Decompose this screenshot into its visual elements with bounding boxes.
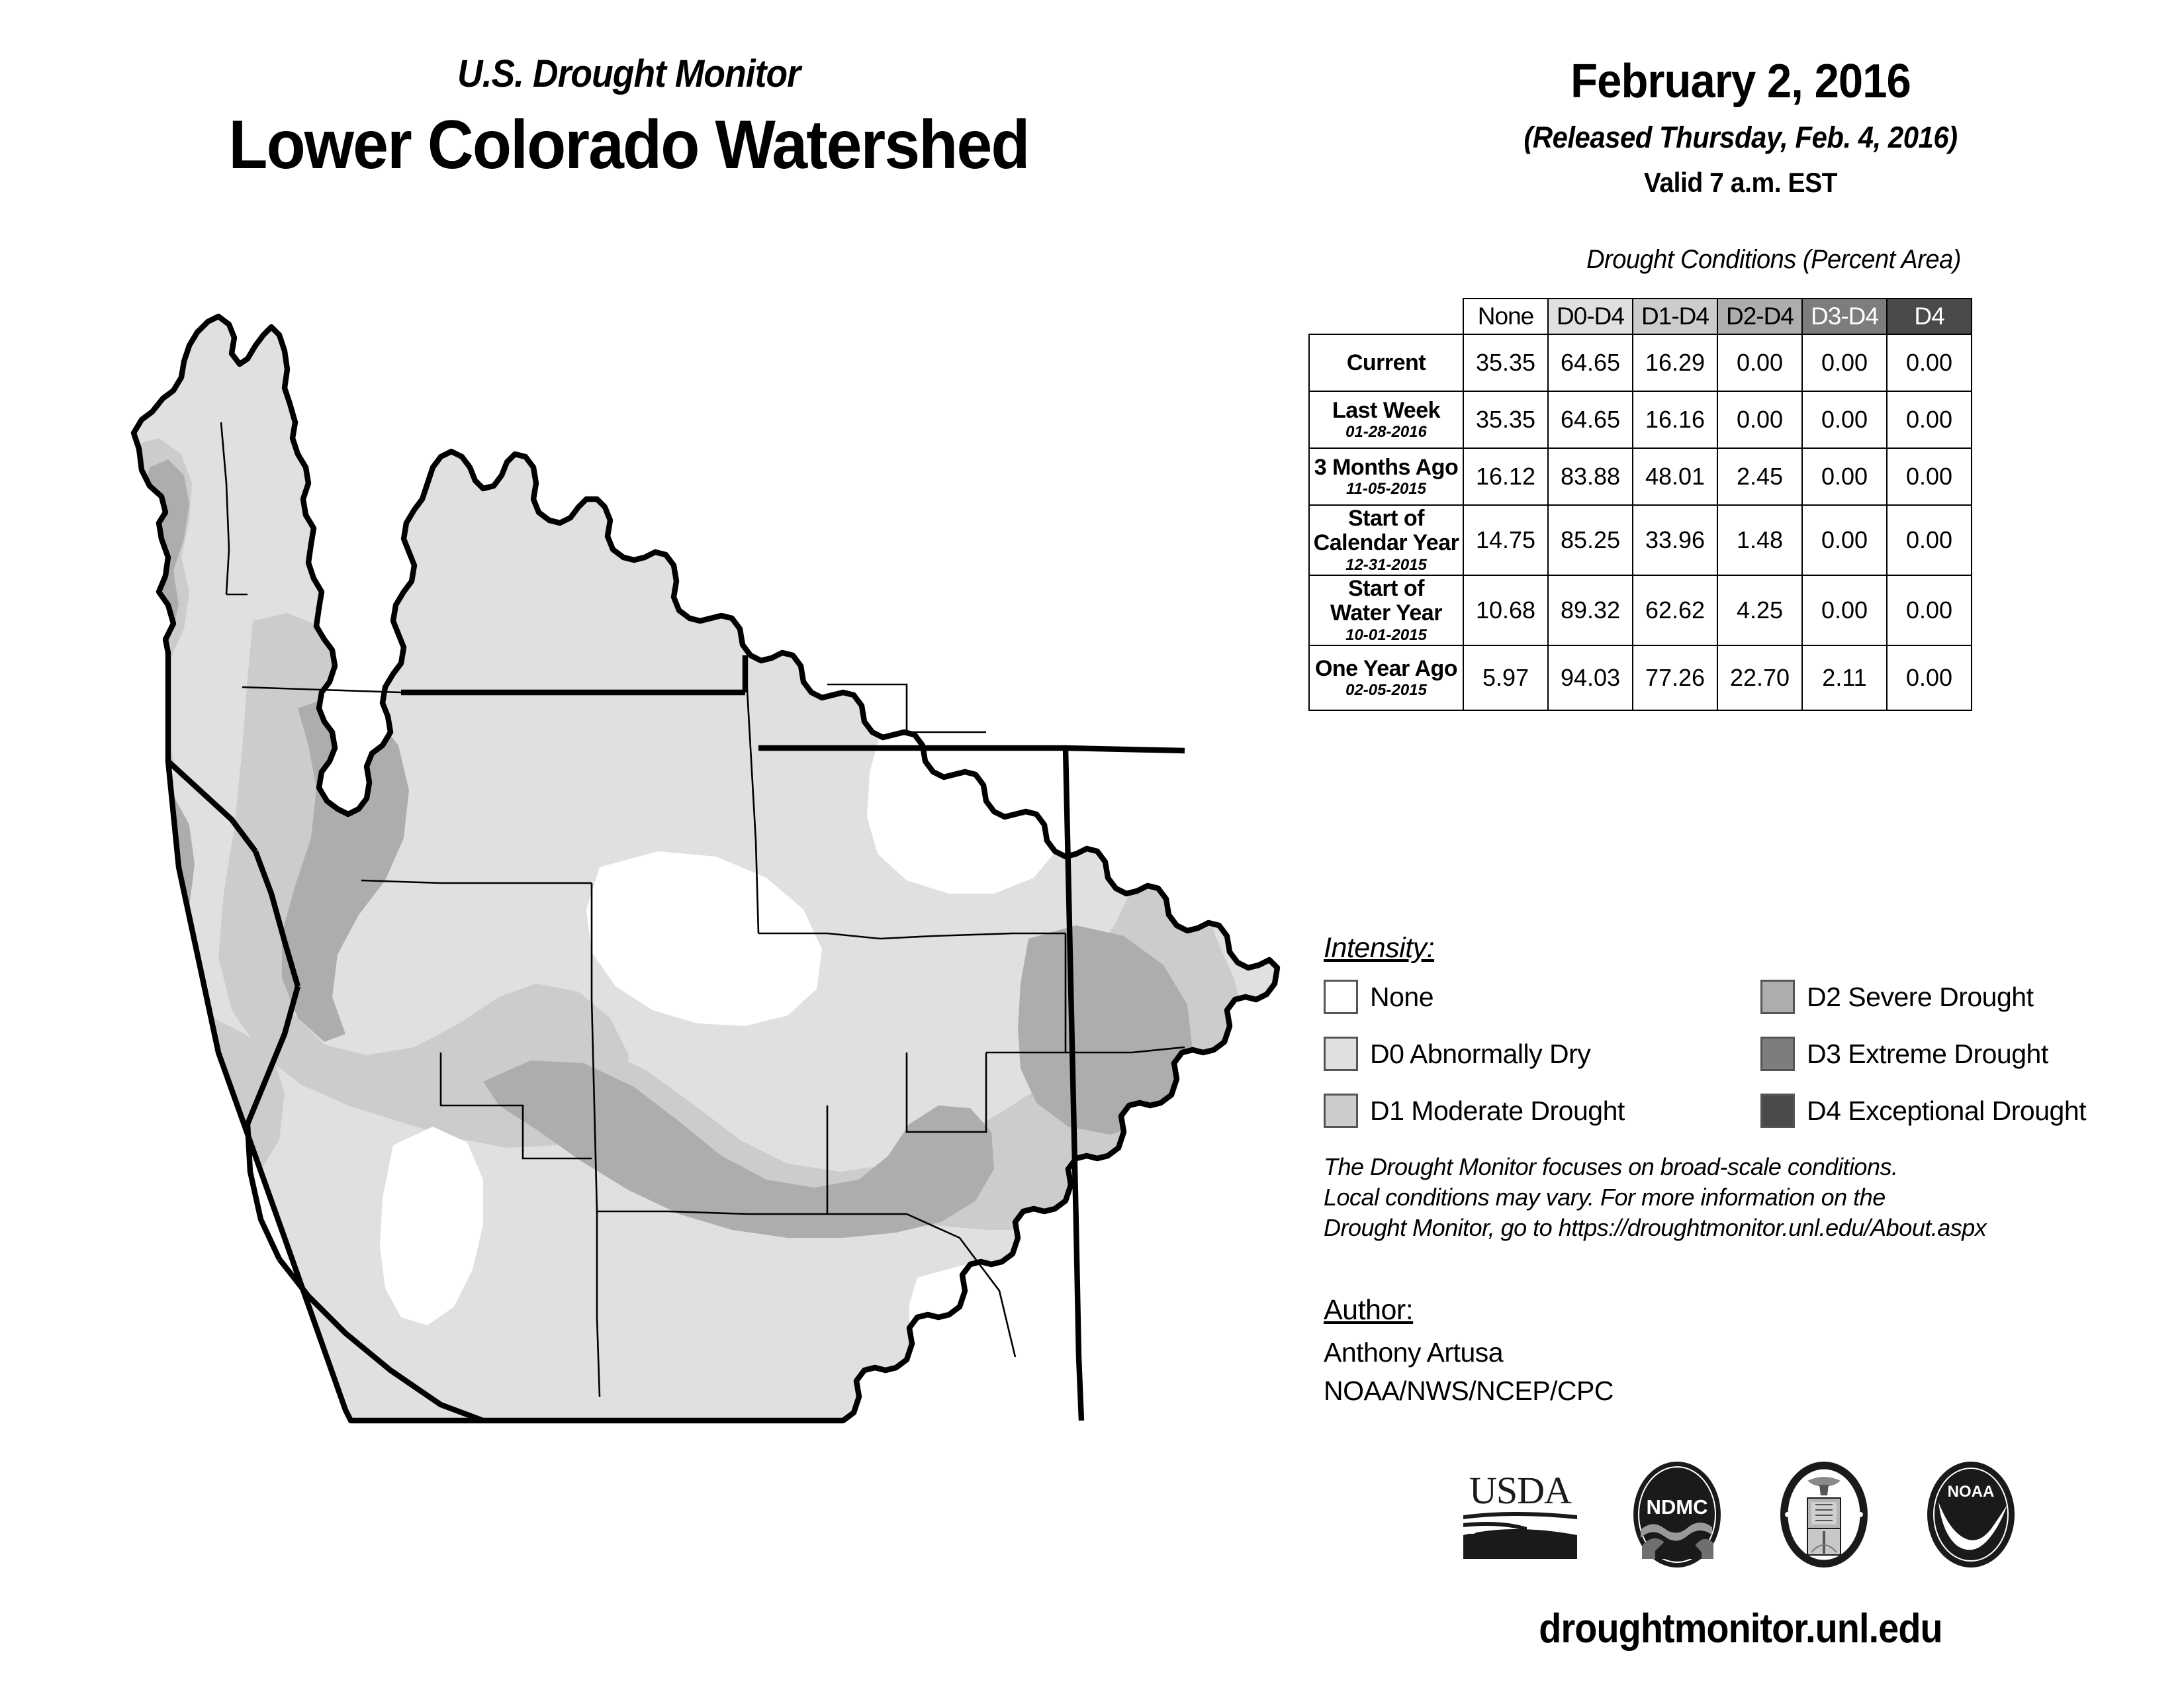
legend-item-d2: D2 Severe Drought xyxy=(1760,972,2086,1022)
cell-3mo-d4: 0.00 xyxy=(1887,448,1972,505)
cell-1yr-d1d4: 77.26 xyxy=(1633,645,1717,710)
info-panel: February 2, 2016 (Released Thursday, Feb… xyxy=(1297,0,2184,1688)
cell-1yr-d0d4: 94.03 xyxy=(1548,645,1633,710)
table-row: Current 35.35 64.65 16.29 0.00 0.00 0.00 xyxy=(1309,334,1972,391)
cell-current-d3d4: 0.00 xyxy=(1802,334,1887,391)
cell-cy-d4: 0.00 xyxy=(1887,505,1972,575)
cell-wy-d3d4: 0.00 xyxy=(1802,575,1887,645)
svg-text:NDMC: NDMC xyxy=(1647,1495,1708,1519)
map-panel: U.S. Drought Monitor Lower Colorado Wate… xyxy=(0,0,1297,1688)
cell-cy-d2d4: 1.48 xyxy=(1717,505,1802,575)
cell-wy-none: 10.68 xyxy=(1463,575,1548,645)
author-heading: Author: xyxy=(1324,1294,1413,1327)
table-row: Start of Water Year 10-01-2015 10.68 89.… xyxy=(1309,575,1972,645)
legend-column-right: D2 Severe Drought D3 Extreme Drought D4 … xyxy=(1760,972,2086,1143)
report-date: February 2, 2016 xyxy=(1328,54,2153,109)
usda-logo: USDA xyxy=(1454,1465,1586,1568)
legend-item-d4: D4 Exceptional Drought xyxy=(1760,1086,2086,1136)
cell-1yr-d3d4: 2.11 xyxy=(1802,645,1887,710)
cell-current-none: 35.35 xyxy=(1463,334,1548,391)
cell-lastweek-d2d4: 0.00 xyxy=(1717,391,1802,448)
cell-3mo-d3d4: 0.00 xyxy=(1802,448,1887,505)
svg-text:NOAA: NOAA xyxy=(1948,1483,1995,1501)
swatch-d1-icon xyxy=(1324,1094,1358,1128)
legend-column-left: None D0 Abnormally Dry D1 Moderate Droug… xyxy=(1324,972,1625,1143)
row-label-start-water-year: Start of Water Year 10-01-2015 xyxy=(1309,575,1463,645)
row-label-text-line1: Start of xyxy=(1348,576,1424,601)
cell-lastweek-d0d4: 64.65 xyxy=(1548,391,1633,448)
legend-item-none: None xyxy=(1324,972,1625,1022)
col-header-d4: D4 xyxy=(1887,299,1972,334)
cell-wy-d4: 0.00 xyxy=(1887,575,1972,645)
legend-item-d3: D3 Extreme Drought xyxy=(1760,1029,2086,1079)
col-header-d1d4: D1-D4 xyxy=(1633,299,1717,334)
disclaimer-line-2: Local conditions may vary. For more info… xyxy=(1324,1182,2177,1213)
cell-current-d1d4: 16.29 xyxy=(1633,334,1717,391)
ndmc-logo: NDMC xyxy=(1621,1458,1733,1574)
disclaimer-line-1: The Drought Monitor focuses on broad-sca… xyxy=(1324,1152,2177,1182)
row-label-date: 01-28-2016 xyxy=(1310,424,1463,441)
cell-current-d2d4: 0.00 xyxy=(1717,334,1802,391)
table-caption: Drought Conditions (Percent Area) xyxy=(1384,245,2163,275)
row-label-text: 3 Months Ago xyxy=(1314,455,1459,480)
program-subtitle: U.S. Drought Monitor xyxy=(50,52,1207,96)
swatch-d0-icon xyxy=(1324,1037,1358,1071)
legend-label-d2: D2 Severe Drought xyxy=(1807,982,2033,1013)
disclaimer-line-3: Drought Monitor, go to https://droughtmo… xyxy=(1324,1213,2177,1243)
row-label-text-line2: Calendar Year xyxy=(1314,530,1459,555)
cell-3mo-d0d4: 83.88 xyxy=(1548,448,1633,505)
legend-label-d3: D3 Extreme Drought xyxy=(1807,1039,2048,1070)
table-row: Last Week 01-28-2016 35.35 64.65 16.16 0… xyxy=(1309,391,1972,448)
table-header-row: None D0-D4 D1-D4 D2-D4 D3-D4 D4 xyxy=(1309,299,1972,334)
table-row: Start of Calendar Year 12-31-2015 14.75 … xyxy=(1309,505,1972,575)
cell-lastweek-d1d4: 16.16 xyxy=(1633,391,1717,448)
row-label-one-year-ago: One Year Ago 02-05-2015 xyxy=(1309,645,1463,710)
cell-wy-d0d4: 89.32 xyxy=(1548,575,1633,645)
swatch-d2-icon xyxy=(1760,980,1795,1014)
row-label-last-week: Last Week 01-28-2016 xyxy=(1309,391,1463,448)
row-label-text: Current xyxy=(1347,350,1426,375)
cell-lastweek-d4: 0.00 xyxy=(1887,391,1972,448)
cell-wy-d2d4: 4.25 xyxy=(1717,575,1802,645)
cell-lastweek-d3d4: 0.00 xyxy=(1802,391,1887,448)
cell-wy-d1d4: 62.62 xyxy=(1633,575,1717,645)
swatch-d4-icon xyxy=(1760,1094,1795,1128)
cell-current-d4: 0.00 xyxy=(1887,334,1972,391)
cell-3mo-none: 16.12 xyxy=(1463,448,1548,505)
cell-cy-d1d4: 33.96 xyxy=(1633,505,1717,575)
legend-label-d4: D4 Exceptional Drought xyxy=(1807,1096,2086,1127)
row-label-date: 12-31-2015 xyxy=(1310,557,1463,574)
intensity-heading: Intensity: xyxy=(1324,932,1434,964)
row-label-date: 11-05-2015 xyxy=(1310,481,1463,498)
legend-item-d1: D1 Moderate Drought xyxy=(1324,1086,1625,1136)
cell-3mo-d1d4: 48.01 xyxy=(1633,448,1717,505)
row-label-text: Last Week xyxy=(1332,398,1440,423)
cell-1yr-d4: 0.00 xyxy=(1887,645,1972,710)
cell-cy-none: 14.75 xyxy=(1463,505,1548,575)
page-title: Lower Colorado Watershed xyxy=(44,109,1214,181)
legend-item-d0: D0 Abnormally Dry xyxy=(1324,1029,1625,1079)
table-row: One Year Ago 02-05-2015 5.97 94.03 77.26… xyxy=(1309,645,1972,710)
drought-conditions-table: None D0-D4 D1-D4 D2-D4 D3-D4 D4 Current … xyxy=(1308,298,1972,711)
table-corner-cell xyxy=(1309,299,1463,334)
row-label-text: One Year Ago xyxy=(1315,656,1457,681)
cell-lastweek-none: 35.35 xyxy=(1463,391,1548,448)
cell-3mo-d2d4: 2.45 xyxy=(1717,448,1802,505)
drought-map[interactable] xyxy=(86,311,1284,1476)
legend-label-none: None xyxy=(1370,982,1433,1013)
row-label-text-line1: Start of xyxy=(1348,506,1424,531)
cell-1yr-none: 5.97 xyxy=(1463,645,1548,710)
disclaimer-text: The Drought Monitor focuses on broad-sca… xyxy=(1324,1152,2177,1243)
doc-seal-logo xyxy=(1768,1458,1880,1574)
row-label-text-line2: Water Year xyxy=(1330,600,1442,626)
agency-logos: USDA NDMC xyxy=(1310,1450,2171,1582)
col-header-d2d4: D2-D4 xyxy=(1717,299,1802,334)
table-row: 3 Months Ago 11-05-2015 16.12 83.88 48.0… xyxy=(1309,448,1972,505)
release-date: (Released Thursday, Feb. 4, 2016) xyxy=(1328,120,2153,155)
cell-1yr-d2d4: 22.70 xyxy=(1717,645,1802,710)
author-org: NOAA/NWS/NCEP/CPC xyxy=(1324,1376,1614,1407)
col-header-d3d4: D3-D4 xyxy=(1802,299,1887,334)
col-header-d0d4: D0-D4 xyxy=(1548,299,1633,334)
row-label-start-calendar-year: Start of Calendar Year 12-31-2015 xyxy=(1309,505,1463,575)
swatch-none-icon xyxy=(1324,980,1358,1014)
cell-cy-d0d4: 85.25 xyxy=(1548,505,1633,575)
cell-current-d0d4: 64.65 xyxy=(1548,334,1633,391)
noaa-logo: NOAA xyxy=(1915,1458,2027,1574)
valid-time: Valid 7 a.m. EST xyxy=(1328,167,2153,199)
author-name: Anthony Artusa xyxy=(1324,1337,1503,1368)
row-label-date: 10-01-2015 xyxy=(1310,627,1463,644)
legend-label-d1: D1 Moderate Drought xyxy=(1370,1096,1625,1127)
swatch-d3-icon xyxy=(1760,1037,1795,1071)
legend-label-d0: D0 Abnormally Dry xyxy=(1370,1039,1590,1070)
col-header-none: None xyxy=(1463,299,1548,334)
svg-text:USDA: USDA xyxy=(1469,1469,1572,1512)
row-label-date: 02-05-2015 xyxy=(1310,682,1463,699)
cell-cy-d3d4: 0.00 xyxy=(1802,505,1887,575)
site-url: droughtmonitor.unl.edu xyxy=(1342,1605,2140,1652)
row-label-3-months-ago: 3 Months Ago 11-05-2015 xyxy=(1309,448,1463,505)
row-label-current: Current xyxy=(1309,334,1463,391)
